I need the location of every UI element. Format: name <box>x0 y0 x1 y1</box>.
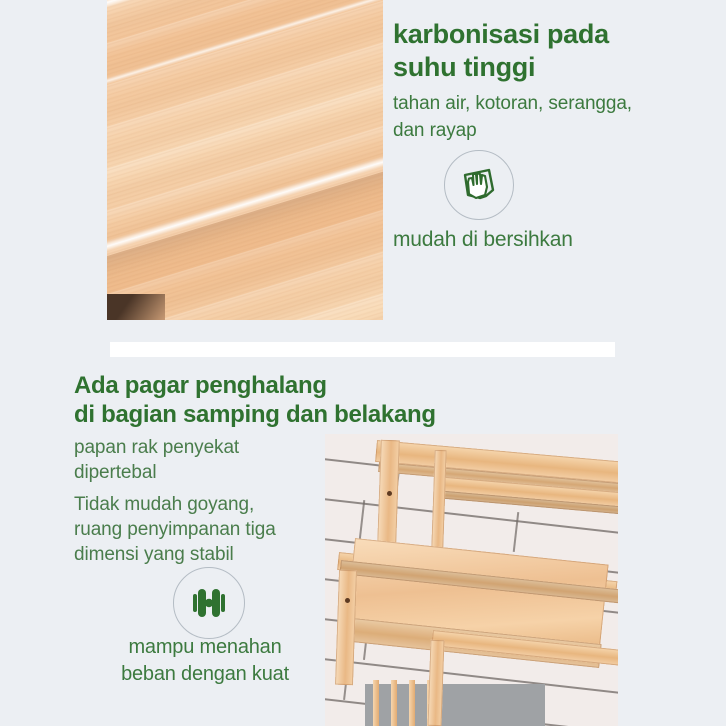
section2-subtext: papan rak penyekat dipertebal <box>74 435 344 485</box>
section1-subtext-line1: tahan air, kotoran, serangga, <box>393 90 713 117</box>
bamboo-surface-photo <box>107 0 383 320</box>
section2-subtext-line1: papan rak penyekat <box>74 435 344 460</box>
section1-subtext-line2: dan rayap <box>393 117 713 144</box>
section1-caption: mudah di bersihkan <box>393 228 573 252</box>
section2-body-line1: Tidak mudah goyang, <box>74 492 336 517</box>
cleaning-cloth-hand-icon <box>444 150 514 220</box>
product-detail-page: karbonisasi pada suhu tinggi tahan air, … <box>0 0 726 726</box>
section1-heading-line1: karbonisasi pada <box>393 18 713 51</box>
section2-body-text: Tidak mudah goyang, ruang penyimpanan ti… <box>74 492 336 567</box>
section2-caption-line2: beban dengan kuat <box>80 661 330 688</box>
basket-slat <box>391 680 397 726</box>
section1-heading: karbonisasi pada suhu tinggi <box>393 18 713 84</box>
screw-hole <box>387 491 392 496</box>
basket-slat <box>373 680 379 726</box>
section2-body-line3: dimensi yang stabil <box>74 542 336 567</box>
wood-grain-texture <box>107 0 383 320</box>
tile-seam <box>359 500 365 540</box>
section2-heading-line1: Ada pagar penghalang <box>74 371 594 400</box>
section2-body-line2: ruang penyimpanan tiga <box>74 517 336 542</box>
section2-subtext-line2: dipertebal <box>74 460 344 485</box>
section2-heading-line2: di bagian samping dan belakang <box>74 400 594 429</box>
section1-subtext: tahan air, kotoran, serangga, dan rayap <box>393 90 713 144</box>
wood-photo-dark-corner <box>107 294 165 320</box>
screw-hole <box>345 598 350 603</box>
shelf-rack-photo <box>325 434 618 726</box>
tile-seam <box>513 512 519 552</box>
section2-caption-line1: mampu menahan <box>80 634 330 661</box>
section1-text-block: karbonisasi pada suhu tinggi tahan air, … <box>393 18 713 144</box>
dumbbell-icon <box>173 567 245 639</box>
basket-slat <box>409 680 415 726</box>
lower-vertical-divider <box>428 640 445 726</box>
section2-heading: Ada pagar penghalang di bagian samping d… <box>74 371 594 429</box>
section2-caption: mampu menahan beban dengan kuat <box>80 634 330 688</box>
section-divider <box>110 342 615 357</box>
section1-heading-line2: suhu tinggi <box>393 51 713 84</box>
